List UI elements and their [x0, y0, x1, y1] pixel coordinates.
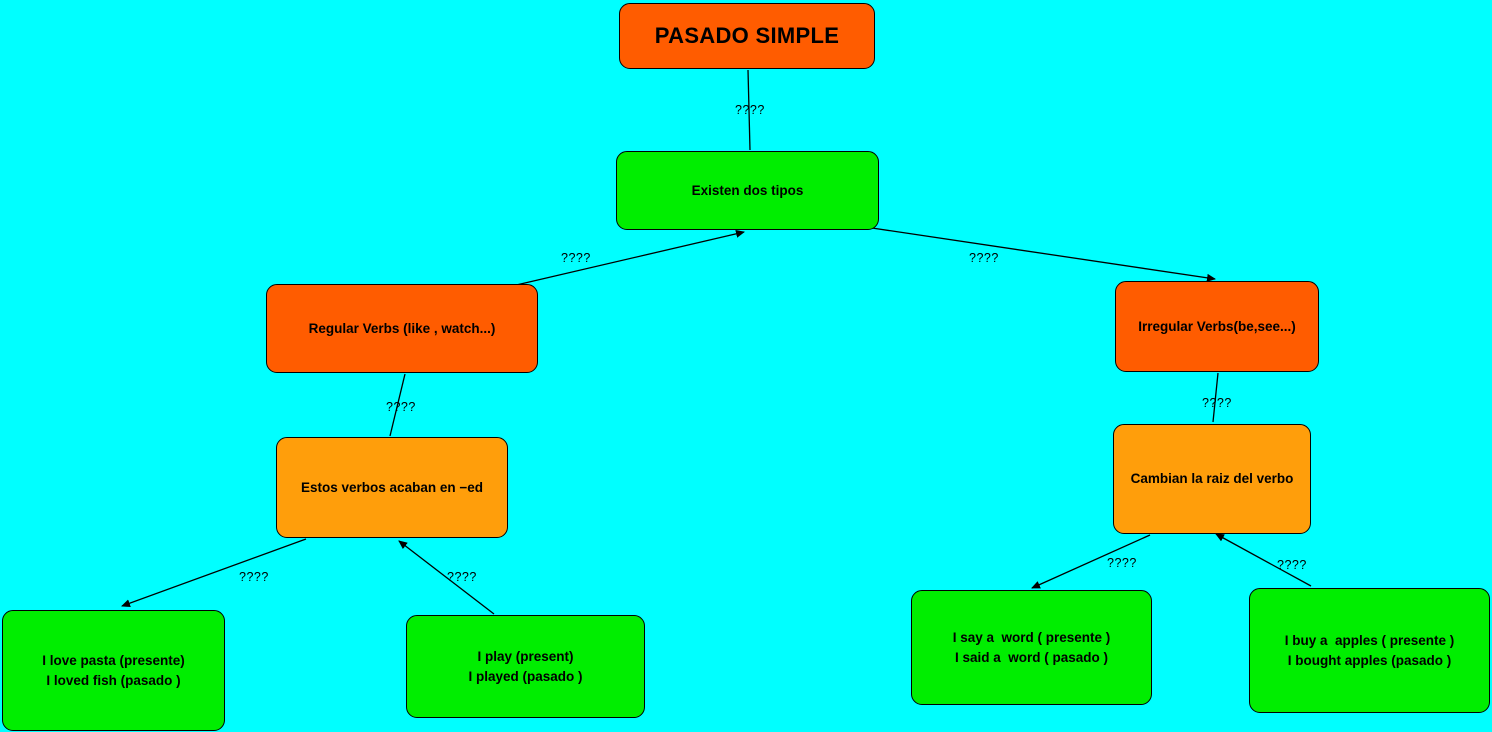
node-root[interactable]: PASADO SIMPLE: [619, 3, 875, 69]
connector-types-to-irregular: [872, 228, 1215, 279]
example-play-present: I play (present): [477, 647, 573, 667]
node-regular-verbs-label: Regular Verbs (like , watch...): [309, 319, 496, 339]
edge-label-root-to-types: ????: [735, 103, 765, 117]
example-love-present: I love pasta (presente): [42, 651, 185, 671]
edge-label-types-to-regular: ????: [561, 251, 591, 265]
example-say-present: I say a word ( presente ): [953, 628, 1111, 648]
connector-rule-to-example-love: [122, 539, 306, 606]
node-irregular-rule[interactable]: Cambian la raiz del verbo: [1113, 424, 1311, 534]
node-regular-rule-label: Estos verbos acaban en −ed: [301, 478, 483, 498]
node-example-buy[interactable]: I buy a apples ( presente ) I bought app…: [1249, 588, 1490, 713]
connector-regular-to-types: [512, 232, 744, 286]
node-root-label: PASADO SIMPLE: [655, 20, 839, 52]
node-regular-verbs[interactable]: Regular Verbs (like , watch...): [266, 284, 538, 373]
edge-label-irregular-rule-to-buy: ????: [1277, 558, 1307, 572]
edge-label-irregular-to-rule: ????: [1202, 396, 1232, 410]
node-irregular-rule-label: Cambian la raiz del verbo: [1131, 469, 1294, 489]
node-example-say[interactable]: I say a word ( presente ) I said a word …: [911, 590, 1152, 705]
mindmap-canvas: PASADO SIMPLE Existen dos tipos Regular …: [0, 0, 1492, 732]
node-types[interactable]: Existen dos tipos: [616, 151, 879, 230]
example-buy-past: I bought apples (pasado ): [1288, 651, 1452, 671]
example-love-past: I loved fish (pasado ): [46, 671, 180, 691]
example-buy-present: I buy a apples ( presente ): [1285, 631, 1455, 651]
example-say-past: I said a word ( pasado ): [955, 648, 1108, 668]
node-types-label: Existen dos tipos: [692, 181, 804, 201]
edge-label-rule-to-play: ????: [447, 570, 477, 584]
edge-label-regular-to-rule: ????: [386, 400, 416, 414]
node-irregular-verbs-label: Irregular Verbs(be,see...): [1138, 317, 1296, 337]
node-example-love[interactable]: I love pasta (presente) I loved fish (pa…: [2, 610, 225, 731]
example-play-past: I played (pasado ): [468, 667, 582, 687]
node-example-play[interactable]: I play (present) I played (pasado ): [406, 615, 645, 718]
edge-label-types-to-irregular: ????: [969, 251, 999, 265]
node-regular-rule[interactable]: Estos verbos acaban en −ed: [276, 437, 508, 538]
edge-label-rule-to-love: ????: [239, 570, 269, 584]
node-irregular-verbs[interactable]: Irregular Verbs(be,see...): [1115, 281, 1319, 372]
edge-label-irregular-rule-to-say: ????: [1107, 556, 1137, 570]
